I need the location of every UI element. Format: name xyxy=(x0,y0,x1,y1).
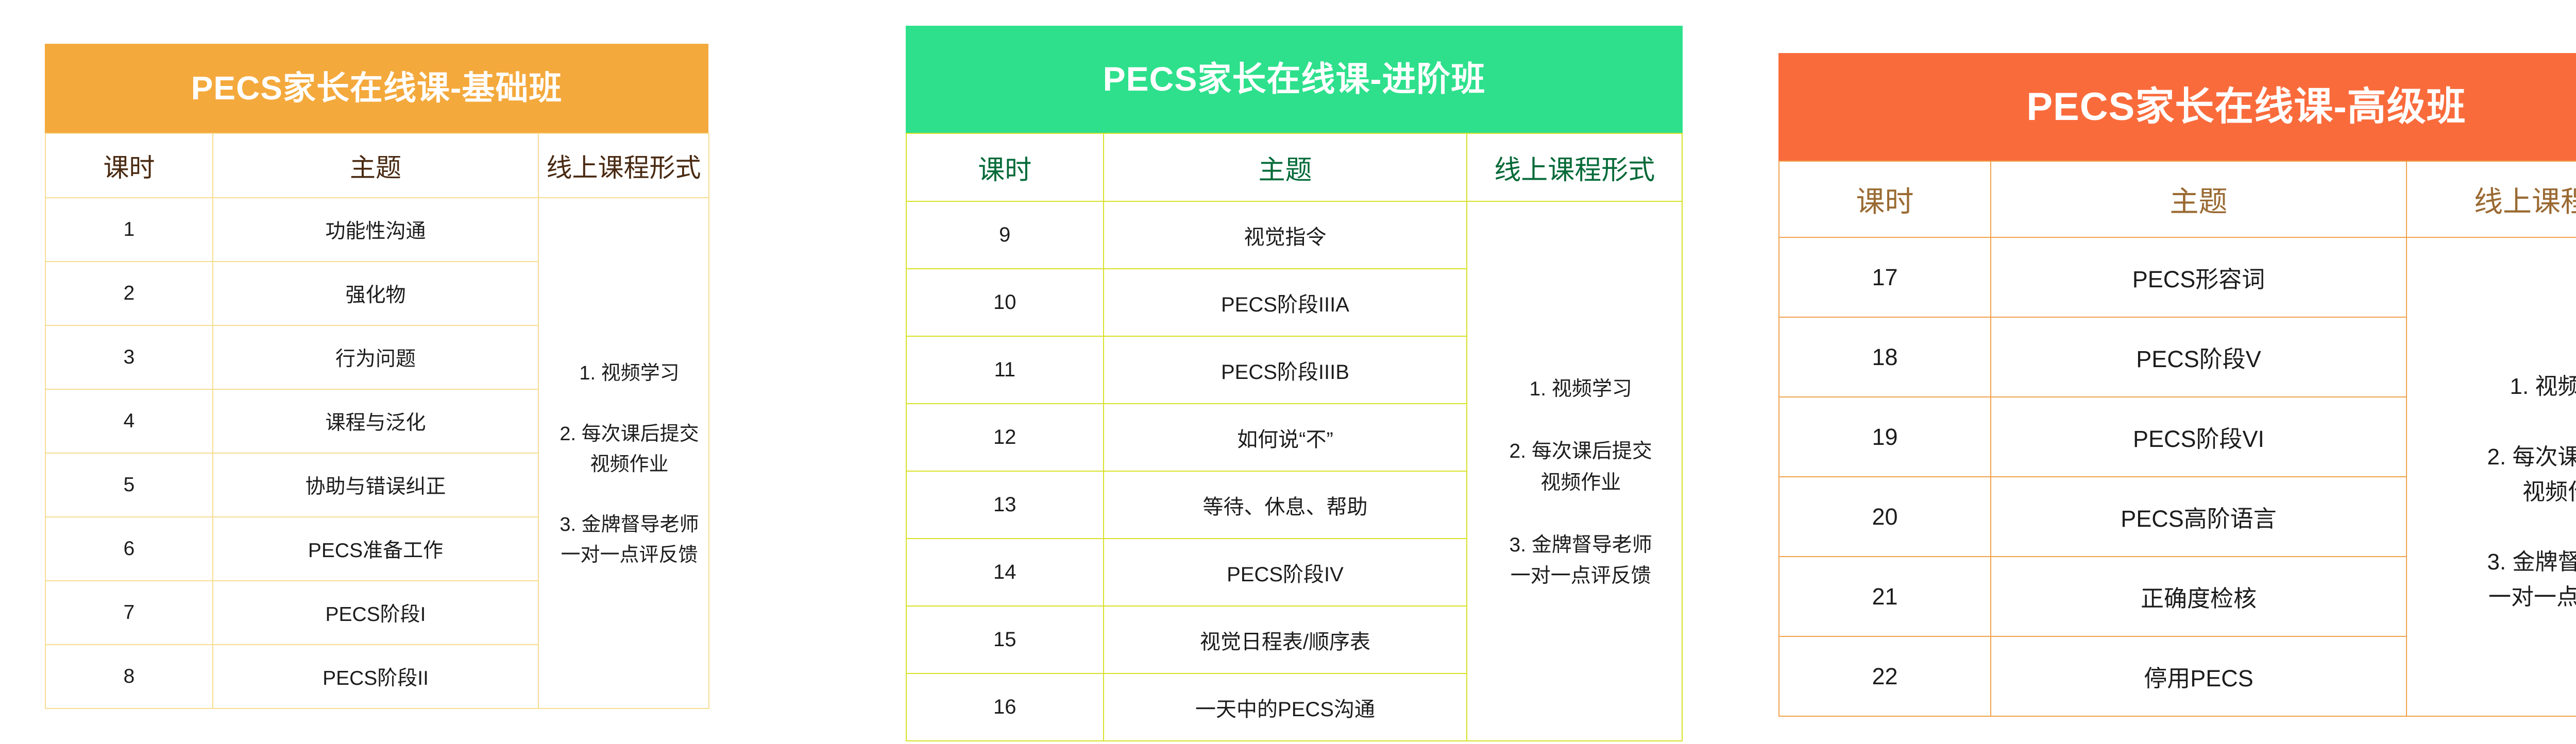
cell-topic: PECS阶段VI xyxy=(1991,397,2406,477)
cell-lesson: 21 xyxy=(1779,557,1991,636)
course-card-basic-banner-title: PECS家长在线课-基础班 xyxy=(45,44,708,133)
course-card-advanced-banner-title: PECS家长在线课-进阶班 xyxy=(906,26,1683,133)
cell-lesson: 12 xyxy=(906,404,1104,471)
cell-topic: 功能性沟通 xyxy=(213,198,538,262)
cell-topic: PECS阶段IIIB xyxy=(1104,336,1467,404)
cell-lesson: 22 xyxy=(1779,636,1991,716)
cell-topic: 课程与泛化 xyxy=(213,389,538,453)
cell-lesson: 9 xyxy=(906,201,1104,269)
column-header-lesson: 课时 xyxy=(45,133,213,198)
cell-lesson: 8 xyxy=(45,645,213,708)
cell-topic: PECS阶段II xyxy=(213,645,538,708)
cell-topic: 强化物 xyxy=(213,262,538,325)
cell-lesson: 17 xyxy=(1779,237,1991,317)
cell-topic: 视觉日程表/顺序表 xyxy=(1104,606,1467,673)
cell-course-format: 1. 视频学习 2. 每次课后提交 视频作业 3. 金牌督导老师 一对一点评反馈 xyxy=(2406,237,2576,716)
column-header-topic: 主题 xyxy=(1991,161,2406,237)
cell-lesson: 4 xyxy=(45,389,213,453)
cell-topic: PECS形容词 xyxy=(1991,237,2406,317)
cell-topic: PECS阶段IV xyxy=(1104,539,1467,606)
cell-lesson: 7 xyxy=(45,581,213,645)
cell-lesson: 14 xyxy=(906,539,1104,606)
cell-topic: PECS阶段IIIA xyxy=(1104,269,1467,336)
course-card-advanced: PECS家长在线课-进阶班 课时 主题 线上课程形式 9 视觉指令 1. 视频学… xyxy=(906,26,1683,741)
table-header-row: 课时 主题 线上课程形式 xyxy=(906,133,1682,201)
cell-topic: 等待、休息、帮助 xyxy=(1104,471,1467,539)
course-card-basic-table: 课时 主题 线上课程形式 1 功能性沟通 1. 视频学习 2. 每次课后提交 视… xyxy=(45,133,709,709)
table-row: 1 功能性沟通 1. 视频学习 2. 每次课后提交 视频作业 3. 金牌督导老师… xyxy=(45,198,709,262)
cell-lesson: 11 xyxy=(906,336,1104,404)
cell-lesson: 18 xyxy=(1779,317,1991,397)
course-card-expert-table: 课时 主题 线上课程形式 17 PECS形容词 1. 视频学习 2. 每次课后提… xyxy=(1778,161,2576,717)
column-header-lesson: 课时 xyxy=(1779,161,1991,237)
column-header-topic: 主题 xyxy=(1104,133,1467,201)
cell-lesson: 6 xyxy=(45,517,213,581)
cell-lesson: 13 xyxy=(906,471,1104,539)
cell-course-format: 1. 视频学习 2. 每次课后提交 视频作业 3. 金牌督导老师 一对一点评反馈 xyxy=(1467,201,1682,741)
cell-lesson: 20 xyxy=(1779,477,1991,557)
table-header-row: 课时 主题 线上课程形式 xyxy=(45,133,709,198)
table-row: 9 视觉指令 1. 视频学习 2. 每次课后提交 视频作业 3. 金牌督导老师 … xyxy=(906,201,1682,269)
column-header-topic: 主题 xyxy=(213,133,538,198)
cell-lesson: 15 xyxy=(906,606,1104,673)
course-card-expert-banner-title: PECS家长在线课-高级班 xyxy=(1778,53,2576,161)
cell-lesson: 5 xyxy=(45,453,213,517)
course-card-expert: PECS家长在线课-高级班 课时 主题 线上课程形式 17 PECS形容词 1.… xyxy=(1778,53,2576,717)
cell-lesson: 1 xyxy=(45,198,213,262)
cell-course-format: 1. 视频学习 2. 每次课后提交 视频作业 3. 金牌督导老师 一对一点评反馈 xyxy=(538,198,709,708)
column-header-format: 线上课程形式 xyxy=(2406,161,2576,237)
table-row: 17 PECS形容词 1. 视频学习 2. 每次课后提交 视频作业 3. 金牌督… xyxy=(1779,237,2576,317)
cell-lesson: 3 xyxy=(45,325,213,389)
course-card-basic: PECS家长在线课-基础班 课时 主题 线上课程形式 1 功能性沟通 1. 视频… xyxy=(45,44,708,709)
cell-lesson: 19 xyxy=(1779,397,1991,477)
cell-topic: PECS高阶语言 xyxy=(1991,477,2406,557)
cell-topic: PECS准备工作 xyxy=(213,517,538,581)
cell-topic: PECS阶段I xyxy=(213,581,538,645)
cell-lesson: 10 xyxy=(906,269,1104,336)
cell-topic: 视觉指令 xyxy=(1104,201,1467,269)
column-header-format: 线上课程形式 xyxy=(538,133,709,198)
column-header-lesson: 课时 xyxy=(906,133,1104,201)
course-card-advanced-table: 课时 主题 线上课程形式 9 视觉指令 1. 视频学习 2. 每次课后提交 视频… xyxy=(906,133,1683,741)
cell-topic: 停用PECS xyxy=(1991,636,2406,716)
cell-topic: 行为问题 xyxy=(213,325,538,389)
cell-lesson: 16 xyxy=(906,673,1104,741)
cell-topic: 如何说“不” xyxy=(1104,404,1467,471)
cell-topic: 正确度检核 xyxy=(1991,557,2406,636)
cell-topic: 一天中的PECS沟通 xyxy=(1104,673,1467,741)
table-header-row: 课时 主题 线上课程形式 xyxy=(1779,161,2576,237)
cell-topic: 协助与错误纠正 xyxy=(213,453,538,517)
column-header-format: 线上课程形式 xyxy=(1467,133,1682,201)
cell-lesson: 2 xyxy=(45,262,213,325)
cell-topic: PECS阶段V xyxy=(1991,317,2406,397)
